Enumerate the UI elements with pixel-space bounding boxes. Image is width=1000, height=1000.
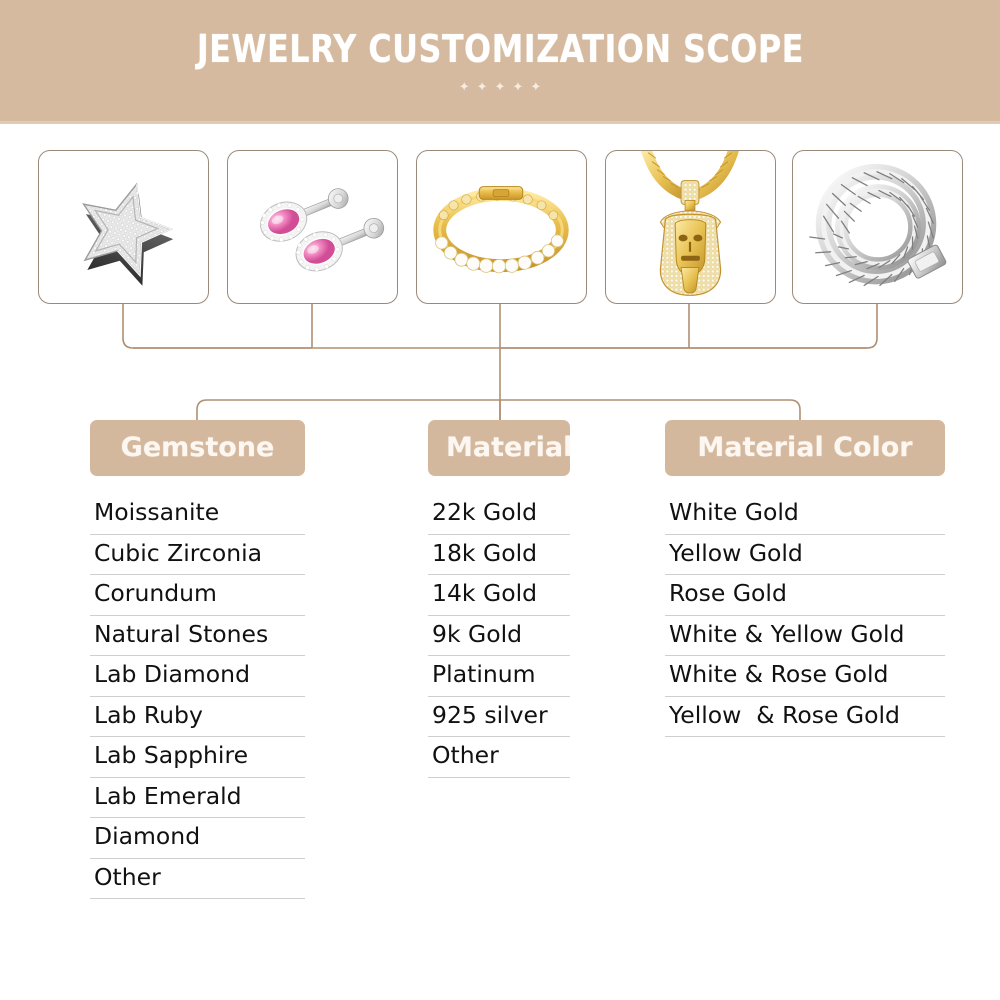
connector-tree — [0, 300, 1000, 430]
connector-card1 — [123, 304, 312, 348]
jesus-piece-pendant-icon — [606, 151, 775, 303]
material-color-option-list: White Gold Yellow Gold Rose Gold White &… — [665, 494, 945, 737]
star-icon: ✦ — [530, 81, 541, 94]
cuban-link-chain-icon — [793, 151, 962, 303]
list-item[interactable]: Rose Gold — [665, 575, 945, 616]
product-card-jesus-piece-pendant[interactable] — [605, 150, 776, 304]
star-icon: ✦ — [459, 81, 470, 94]
tennis-bracelet-icon — [417, 151, 586, 303]
stud-earrings-icon — [228, 151, 397, 303]
list-item[interactable]: White & Yellow Gold — [665, 616, 945, 657]
star-icon: ✦ — [477, 81, 488, 94]
page-banner: JEWELRY CUSTOMIZATION SCOPE ✦ ✦ ✦ ✦ ✦ — [0, 0, 1000, 124]
product-card-star-pendant[interactable] — [38, 150, 209, 304]
list-item[interactable]: Corundum — [90, 575, 305, 616]
list-item[interactable]: 9k Gold — [428, 616, 570, 657]
list-item[interactable]: Other — [428, 737, 570, 778]
star-icon: ✦ — [512, 81, 523, 94]
list-item[interactable]: 14k Gold — [428, 575, 570, 616]
list-item[interactable]: Other — [90, 859, 305, 900]
list-item[interactable]: 925 silver — [428, 697, 570, 738]
product-card-row — [38, 150, 963, 304]
list-item[interactable]: 22k Gold — [428, 494, 570, 535]
list-item[interactable]: White & Rose Gold — [665, 656, 945, 697]
jewelry-customization-scope-page: JEWELRY CUSTOMIZATION SCOPE ✦ ✦ ✦ ✦ ✦ — [0, 0, 1000, 1000]
product-card-cuban-link-chain[interactable] — [792, 150, 963, 304]
list-item[interactable]: Moissanite — [90, 494, 305, 535]
column-gemstone: Gemstone Moissanite Cubic Zirconia Corun… — [90, 420, 305, 899]
product-card-stud-earrings[interactable] — [227, 150, 398, 304]
banner-underline — [0, 121, 1000, 124]
list-item[interactable]: Lab Sapphire — [90, 737, 305, 778]
column-header-material: Material — [428, 420, 570, 476]
column-header-material-color: Material Color — [665, 420, 945, 476]
list-item[interactable]: Natural Stones — [90, 616, 305, 657]
list-item[interactable]: Yellow Gold — [665, 535, 945, 576]
column-material-color: Material Color White Gold Yellow Gold Ro… — [665, 420, 945, 737]
gemstone-option-list: Moissanite Cubic Zirconia Corundum Natur… — [90, 494, 305, 899]
list-item[interactable]: Yellow & Rose Gold — [665, 697, 945, 738]
star-rating-decoration: ✦ ✦ ✦ ✦ ✦ — [459, 81, 542, 94]
column-material: Material 22k Gold 18k Gold 14k Gold 9k G… — [428, 420, 570, 778]
list-item[interactable]: 18k Gold — [428, 535, 570, 576]
list-item[interactable]: Diamond — [90, 818, 305, 859]
connector-lines — [0, 300, 1000, 430]
list-item[interactable]: Lab Emerald — [90, 778, 305, 819]
list-item[interactable]: Platinum — [428, 656, 570, 697]
material-option-list: 22k Gold 18k Gold 14k Gold 9k Gold Plati… — [428, 494, 570, 778]
product-card-tennis-bracelet[interactable] — [416, 150, 587, 304]
page-title: JEWELRY CUSTOMIZATION SCOPE — [196, 30, 803, 68]
list-item[interactable]: Lab Diamond — [90, 656, 305, 697]
star-icon: ✦ — [495, 81, 506, 94]
list-item[interactable]: Cubic Zirconia — [90, 535, 305, 576]
column-header-gemstone: Gemstone — [90, 420, 305, 476]
list-item[interactable]: White Gold — [665, 494, 945, 535]
star-pendant-icon — [39, 151, 208, 303]
list-item[interactable]: Lab Ruby — [90, 697, 305, 738]
